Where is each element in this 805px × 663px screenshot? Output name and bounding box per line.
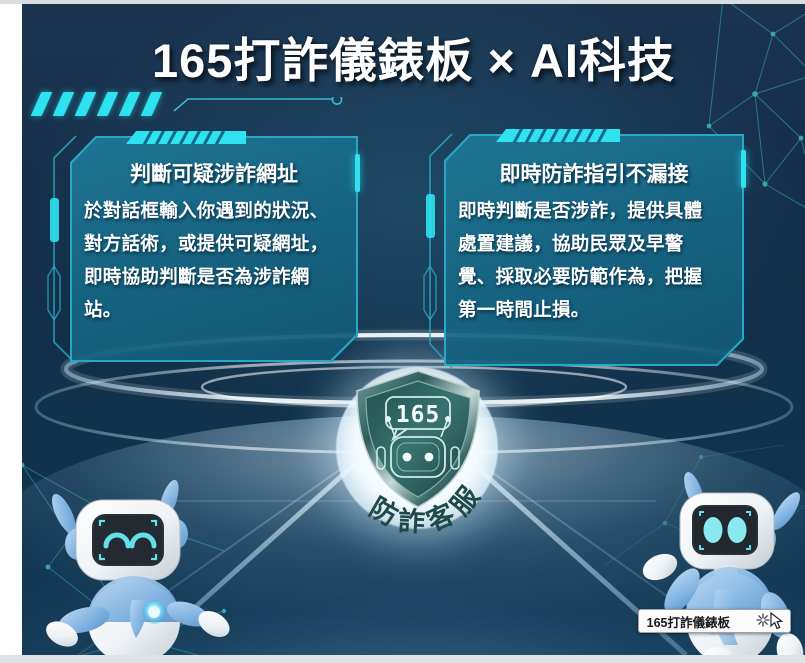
panel-text-line: 對方話術，或提供可疑網址， bbox=[84, 227, 348, 260]
title-lead-line bbox=[172, 97, 344, 113]
panel-text-line: 於對話框輸入你遇到的狀況、 bbox=[84, 194, 348, 227]
robot-smiling-icon bbox=[36, 472, 251, 655]
panel-heading: 判斷可疑涉詐網址 bbox=[70, 158, 358, 188]
panel-heading: 即時防詐指引不漏接 bbox=[444, 158, 744, 188]
sparkle-icon bbox=[756, 613, 770, 627]
panel-text-line: 第一時間止損。 bbox=[458, 293, 736, 326]
dashboard-tooltip[interactable]: 165打詐儀錶板 bbox=[638, 609, 791, 633]
panel-text-line: 即時判斷是否涉詐，提供具體 bbox=[458, 194, 736, 227]
slide-canvas: 165打詐儀錶板 × AI科技 bbox=[22, 4, 805, 655]
panel-text-line: 處置建議，協助民眾及早警 bbox=[458, 227, 736, 260]
screenshot-root: 165打詐儀錶板 × AI科技 bbox=[0, 0, 805, 663]
tooltip-icon-group bbox=[756, 611, 782, 631]
window-top-edge bbox=[0, 0, 805, 4]
panel-realtime-guidance: 即時防詐指引不漏接 即時判斷是否涉詐，提供具體 處置建議，協助民眾及早警 覺、採… bbox=[444, 134, 744, 366]
panel-top-hatch-decoration bbox=[126, 131, 246, 146]
mouse-cursor-icon bbox=[770, 612, 783, 630]
emblem-display-number: 165 bbox=[396, 402, 441, 428]
panel-text-line: 即時協助判斷是否為涉詐網 bbox=[84, 260, 348, 293]
emblem-165-anti-fraud-service: 165 防詐客服 bbox=[333, 359, 503, 559]
title-stripe-decoration bbox=[32, 92, 177, 116]
panel-suspicious-url: 判斷可疑涉詐網址 於對話框輸入你遇到的狀況、 對方話術，或提供可疑網址， 即時協… bbox=[70, 136, 358, 362]
tooltip-label: 165打詐儀錶板 bbox=[647, 612, 730, 631]
panel-body-text: 於對話框輸入你遇到的狀況、 對方話術，或提供可疑網址， 即時協助判斷是否為涉詐網… bbox=[84, 194, 348, 326]
panel-body-text: 即時判斷是否涉詐，提供具體 處置建議，協助民眾及早警 覺、採取必要防範作為，把握… bbox=[458, 194, 736, 326]
window-bottom-edge bbox=[0, 655, 805, 663]
window-left-margin bbox=[0, 4, 22, 655]
panel-text-line: 覺、採取必要防範作為，把握 bbox=[458, 260, 736, 293]
shield-robot-icon: 165 防詐客服 bbox=[333, 359, 503, 559]
panel-top-hatch-decoration bbox=[496, 129, 620, 144]
panel-text-line: 站。 bbox=[84, 293, 348, 326]
page-title: 165打詐儀錶板 × AI科技 bbox=[22, 22, 805, 91]
